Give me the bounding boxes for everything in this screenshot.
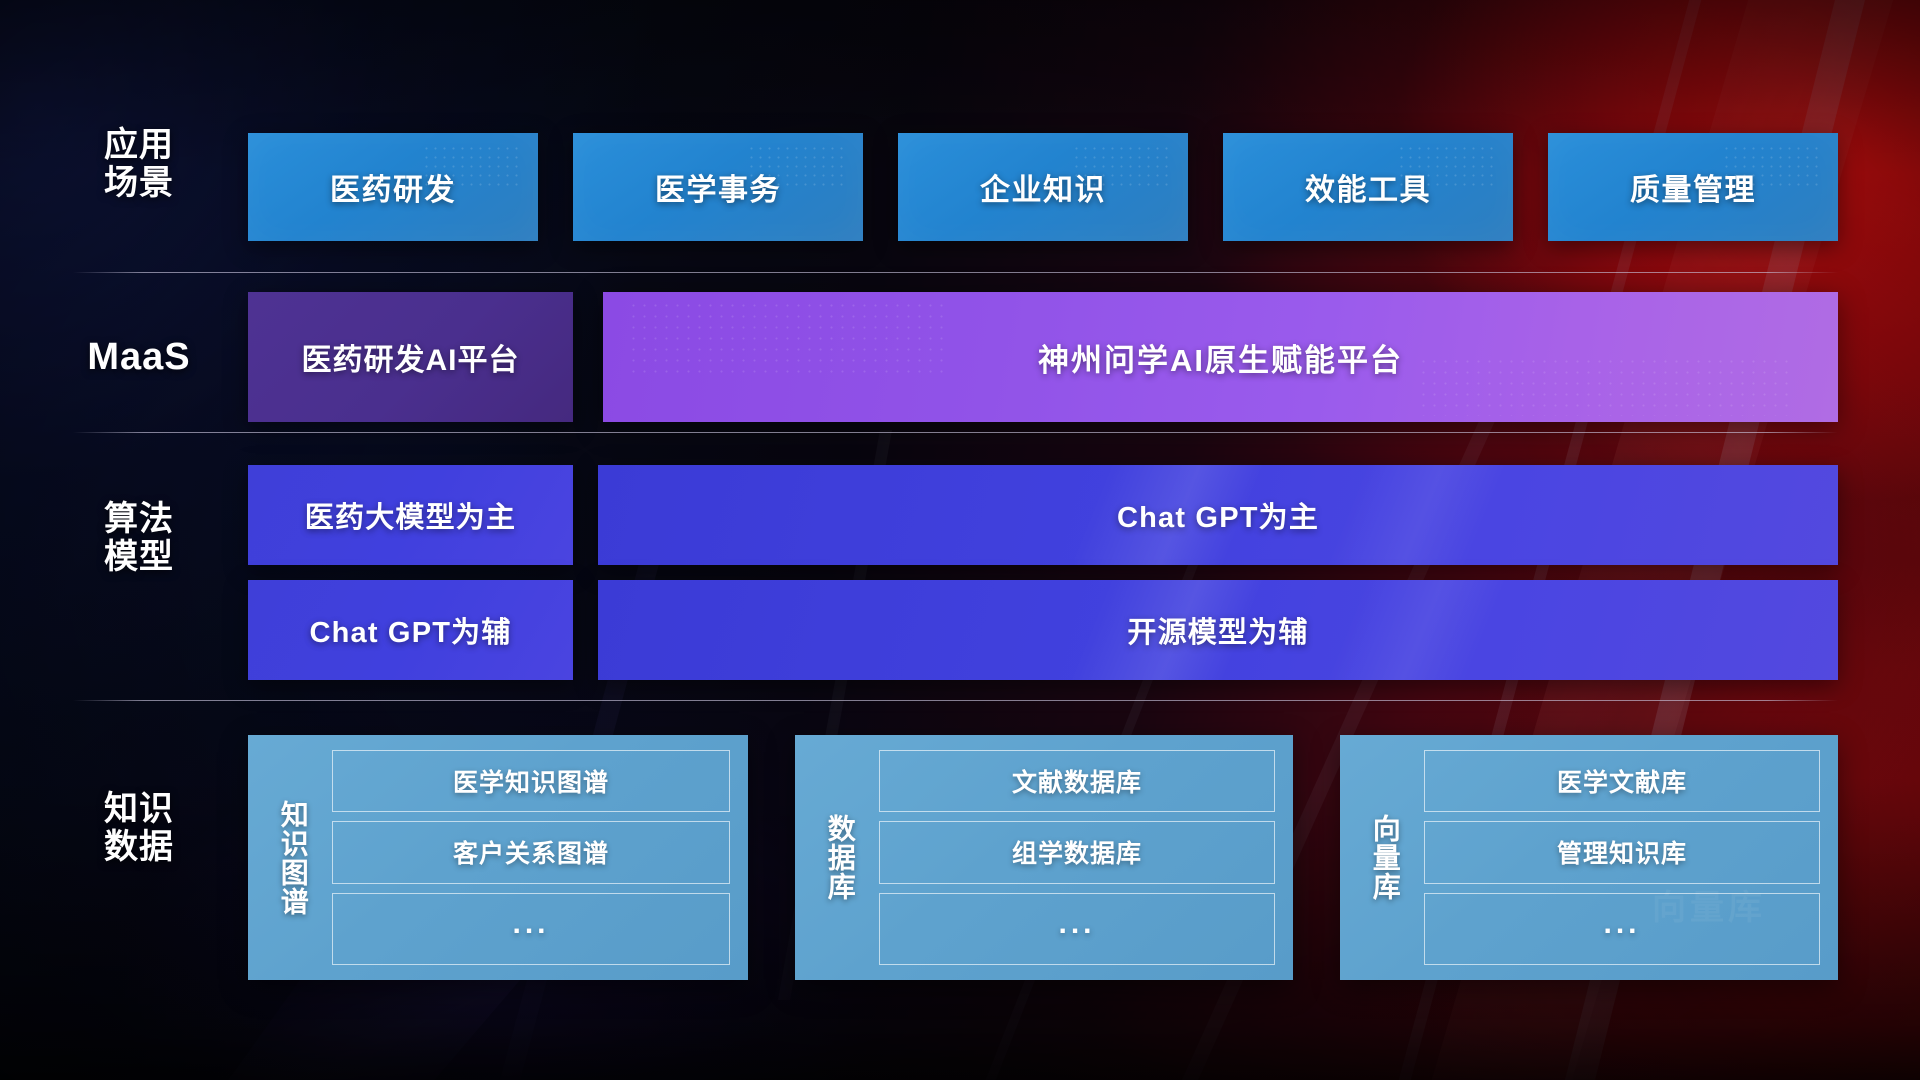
algorithm-cell-label: Chat GPT为辅 [309,609,511,651]
row-label-maas: MaaS [73,336,205,379]
knowledge-group-items: 医学文献库 管理知识库 ... [1424,750,1820,965]
maas-platform-left[interactable]: 医药研发AI平台 [248,292,573,422]
divider-algorithm-knowledge [73,700,1838,701]
application-item-label: 企业知识 [980,165,1106,209]
knowledge-item[interactable]: 客户关系图谱 [332,821,730,883]
knowledge-item-more[interactable]: ... [879,893,1275,965]
knowledge-group-title: 数据库 [809,750,871,965]
knowledge-group-2[interactable]: 向量库 医学文献库 管理知识库 ... [1340,735,1838,980]
row-label-application: 应用 场景 [73,126,205,202]
application-item-label: 质量管理 [1630,165,1756,209]
application-item-1[interactable]: 医学事务 [573,133,863,241]
application-item-label: 医学事务 [655,165,781,209]
knowledge-item[interactable]: 医学文献库 [1424,750,1820,812]
application-item-label: 医药研发 [330,165,456,209]
knowledge-group-items: 文献数据库 组学数据库 ... [879,750,1275,965]
divider-maas-algorithm [73,432,1838,433]
maas-left-label: 医药研发AI平台 [302,335,520,379]
knowledge-group-0[interactable]: 知识图谱 医学知识图谱 客户关系图谱 ... [248,735,748,980]
algorithm-cell-0-left[interactable]: 医药大模型为主 [248,465,573,565]
row-label-knowledge: 知识 数据 [73,790,205,866]
knowledge-group-title: 向量库 [1354,750,1416,965]
divider-application-maas [73,272,1838,273]
knowledge-item[interactable]: 文献数据库 [879,750,1275,812]
algorithm-cell-label: 医药大模型为主 [305,494,516,536]
knowledge-item-more[interactable]: ... [332,893,730,965]
algorithm-cell-1-left[interactable]: Chat GPT为辅 [248,580,573,680]
knowledge-group-items: 医学知识图谱 客户关系图谱 ... [332,750,730,965]
row-label-algorithm: 算法 模型 [73,500,205,576]
architecture-diagram: 应用 场景 医药研发 医学事务 企业知识 效能工具 质量管理 MaaS 医药研发… [0,0,1920,1080]
algorithm-cell-0-right[interactable]: Chat GPT为主 [598,465,1838,565]
knowledge-item-more[interactable]: ... [1424,893,1820,965]
application-item-3[interactable]: 效能工具 [1223,133,1513,241]
knowledge-item[interactable]: 医学知识图谱 [332,750,730,812]
maas-right-label: 神州问学AI原生赋能平台 [1038,335,1403,380]
knowledge-item[interactable]: 组学数据库 [879,821,1275,883]
application-item-label: 效能工具 [1305,165,1431,209]
application-item-4[interactable]: 质量管理 [1548,133,1838,241]
knowledge-item[interactable]: 管理知识库 [1424,821,1820,883]
knowledge-group-title: 知识图谱 [262,750,324,965]
maas-platform-right[interactable]: 神州问学AI原生赋能平台 [603,292,1838,422]
knowledge-group-1[interactable]: 数据库 文献数据库 组学数据库 ... [795,735,1293,980]
algorithm-cell-label: 开源模型为辅 [1127,609,1308,651]
application-item-0[interactable]: 医药研发 [248,133,538,241]
algorithm-cell-1-right[interactable]: 开源模型为辅 [598,580,1838,680]
application-item-2[interactable]: 企业知识 [898,133,1188,241]
algorithm-cell-label: Chat GPT为主 [1117,494,1319,536]
